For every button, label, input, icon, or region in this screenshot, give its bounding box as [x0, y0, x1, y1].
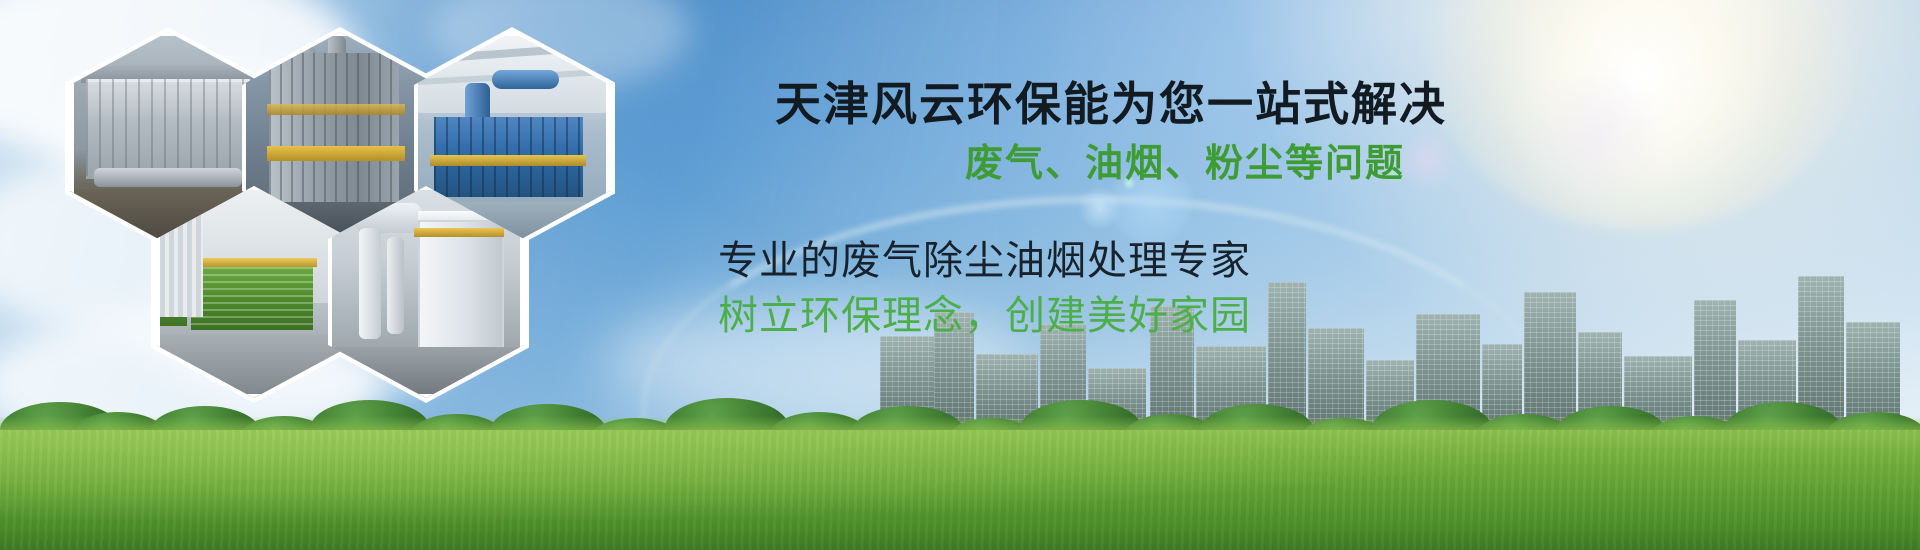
- headline-primary: 天津风云环保能为您一站式解决: [775, 68, 1447, 134]
- tagline-secondary: 树立环保理念，创建美好家园: [718, 283, 1251, 341]
- hero-banner: 天津风云环保能为您一站式解决 废气、油烟、粉尘等问题 专业的废气除尘油烟处理专家…: [0, 0, 1920, 550]
- headline-secondary: 废气、油烟、粉尘等问题: [965, 132, 1405, 187]
- grass-field: [0, 430, 1920, 550]
- tagline-primary: 专业的废气除尘油烟处理专家: [718, 228, 1251, 286]
